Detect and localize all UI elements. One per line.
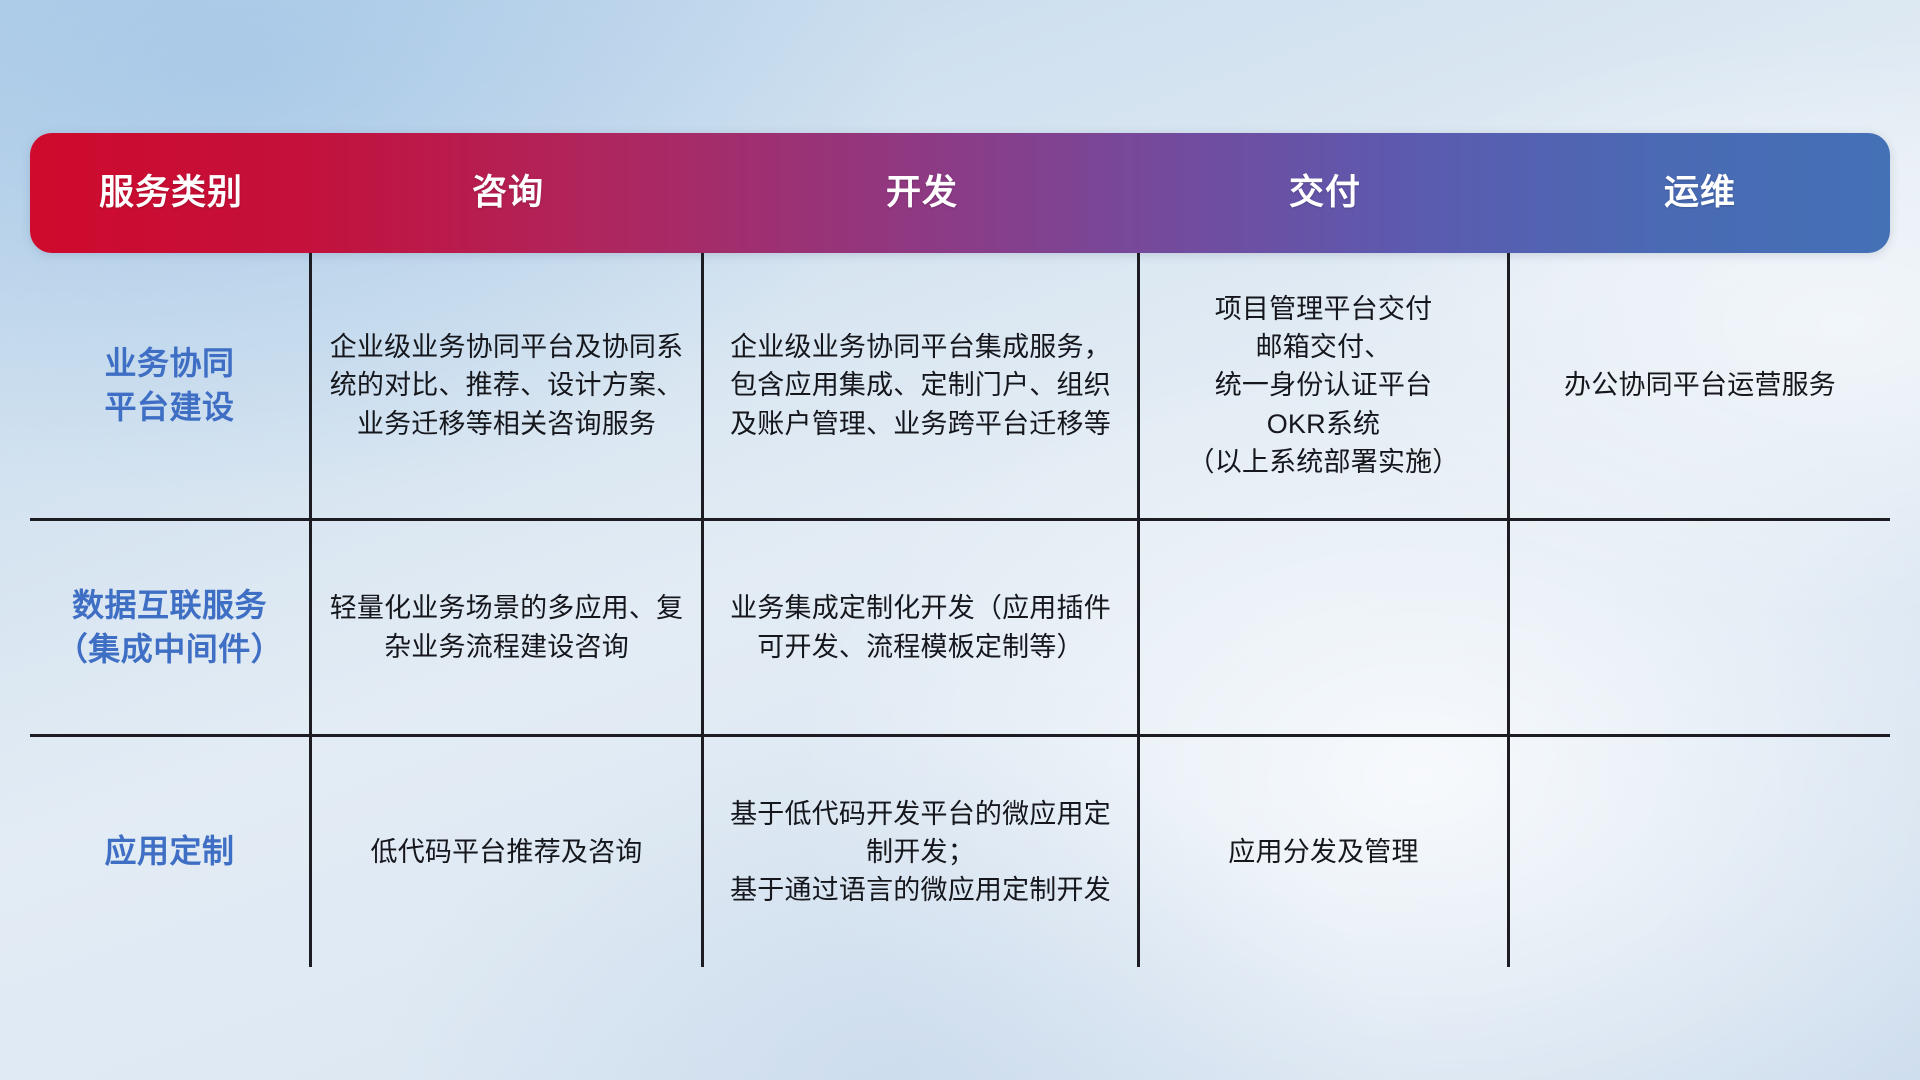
column-header-category: 服务类别 (30, 172, 312, 214)
table-row: 业务协同 平台建设 企业级业务协同平台及协同系统的对比、推荐、设计方案、业务迁移… (30, 253, 1890, 518)
cell-operations: 办公协同平台运营服务 (1510, 253, 1890, 518)
cell-text: 应用分发及管理 (1228, 833, 1418, 871)
cell-text: 企业级业务协同平台集成服务，包含应用集成、定制门户、组织及账户管理、业务跨平台迁… (718, 328, 1123, 443)
column-header-operations: 运维 (1510, 172, 1890, 214)
row-label-text: 数据互联服务 （集成中间件） (56, 584, 284, 670)
cell-development: 企业级业务协同平台集成服务，包含应用集成、定制门户、组织及账户管理、业务跨平台迁… (704, 253, 1140, 518)
cell-text: 业务集成定制化开发（应用插件可开发、流程模板定制等） (718, 589, 1123, 666)
row-label-cell: 应用定制 (30, 737, 312, 967)
table-row: 数据互联服务 （集成中间件） 轻量化业务场景的多应用、复杂业务流程建设咨询 业务… (30, 518, 1890, 734)
cell-text: 基于低代码开发平台的微应用定制开发； 基于通过语言的微应用定制开发 (718, 795, 1123, 910)
cell-consulting: 低代码平台推荐及咨询 (312, 737, 704, 967)
table-row: 应用定制 低代码平台推荐及咨询 基于低代码开发平台的微应用定制开发； 基于通过语… (30, 734, 1890, 967)
cell-text: 轻量化业务场景的多应用、复杂业务流程建设咨询 (326, 589, 687, 666)
cell-text: 项目管理平台交付 邮箱交付、 统一身份认证平台 OKR系统 （以上系统部署实施） (1188, 290, 1460, 482)
slide-canvas: 服务类别 咨询 开发 交付 运维 业务协同 平台建设 企业级业务协同平台及协同系… (0, 0, 1920, 1080)
service-matrix-table: 服务类别 咨询 开发 交付 运维 业务协同 平台建设 企业级业务协同平台及协同系… (30, 133, 1890, 961)
column-header-development: 开发 (704, 172, 1140, 214)
cell-development: 业务集成定制化开发（应用插件可开发、流程模板定制等） (704, 521, 1140, 734)
cell-text: 低代码平台推荐及咨询 (371, 833, 643, 871)
cell-delivery: 应用分发及管理 (1140, 737, 1510, 967)
cell-development: 基于低代码开发平台的微应用定制开发； 基于通过语言的微应用定制开发 (704, 737, 1140, 967)
table-header-row: 服务类别 咨询 开发 交付 运维 (30, 133, 1890, 253)
cell-delivery (1140, 521, 1510, 734)
column-header-consulting: 咨询 (312, 172, 704, 214)
row-label-cell: 数据互联服务 （集成中间件） (30, 521, 312, 734)
cell-consulting: 企业级业务协同平台及协同系统的对比、推荐、设计方案、业务迁移等相关咨询服务 (312, 253, 704, 518)
cell-consulting: 轻量化业务场景的多应用、复杂业务流程建设咨询 (312, 521, 704, 734)
cell-text: 办公协同平台运营服务 (1564, 366, 1836, 404)
cell-delivery: 项目管理平台交付 邮箱交付、 统一身份认证平台 OKR系统 （以上系统部署实施） (1140, 253, 1510, 518)
table-body: 业务协同 平台建设 企业级业务协同平台及协同系统的对比、推荐、设计方案、业务迁移… (30, 253, 1890, 967)
row-label-text: 应用定制 (104, 830, 234, 873)
row-label-cell: 业务协同 平台建设 (30, 253, 312, 518)
cell-operations (1510, 521, 1890, 734)
row-label-text: 业务协同 平台建设 (104, 342, 234, 428)
cell-operations (1510, 737, 1890, 967)
column-header-delivery: 交付 (1140, 172, 1510, 214)
cell-text: 企业级业务协同平台及协同系统的对比、推荐、设计方案、业务迁移等相关咨询服务 (326, 328, 687, 443)
